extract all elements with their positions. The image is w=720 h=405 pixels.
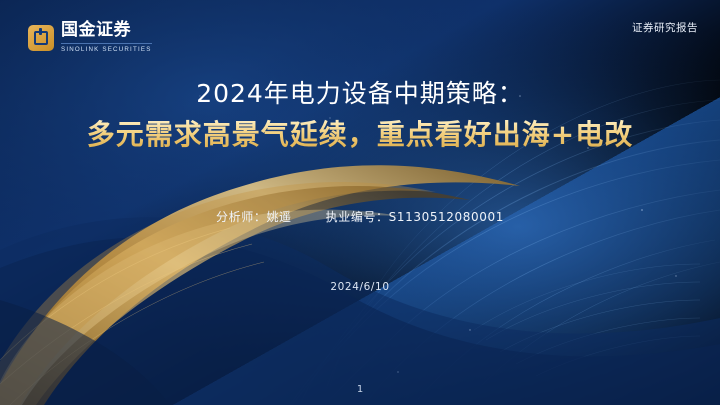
- logo-text: 国金证券 SINOLINK SECURITIES: [61, 22, 152, 53]
- title-slide: 国金证券 SINOLINK SECURITIES 证券研究报告 2024年电力设…: [0, 0, 720, 405]
- page-title-line-1: 2024年电力设备中期策略：: [0, 78, 720, 109]
- company-logo: 国金证券 SINOLINK SECURITIES: [28, 22, 152, 53]
- analyst-name: 分析师：姚遥: [216, 208, 292, 225]
- background-artwork: [0, 0, 720, 405]
- logo-english-name: SINOLINK SECURITIES: [61, 43, 152, 53]
- analyst-info: 分析师：姚遥 执业编号：S1130512080001: [0, 208, 720, 225]
- report-type-label: 证券研究报告: [632, 20, 698, 35]
- publish-date: 2024/6/10: [0, 281, 720, 293]
- logo-chinese-name: 国金证券: [61, 22, 152, 39]
- title-block: 2024年电力设备中期策略： 多元需求高景气延续，重点看好出海+电改: [0, 78, 720, 154]
- page-title-line-2: 多元需求高景气延续，重点看好出海+电改: [0, 117, 720, 153]
- analyst-license: 执业编号：S1130512080001: [326, 208, 504, 225]
- sinolink-shield-icon: [28, 25, 54, 51]
- page-number: 1: [0, 384, 720, 395]
